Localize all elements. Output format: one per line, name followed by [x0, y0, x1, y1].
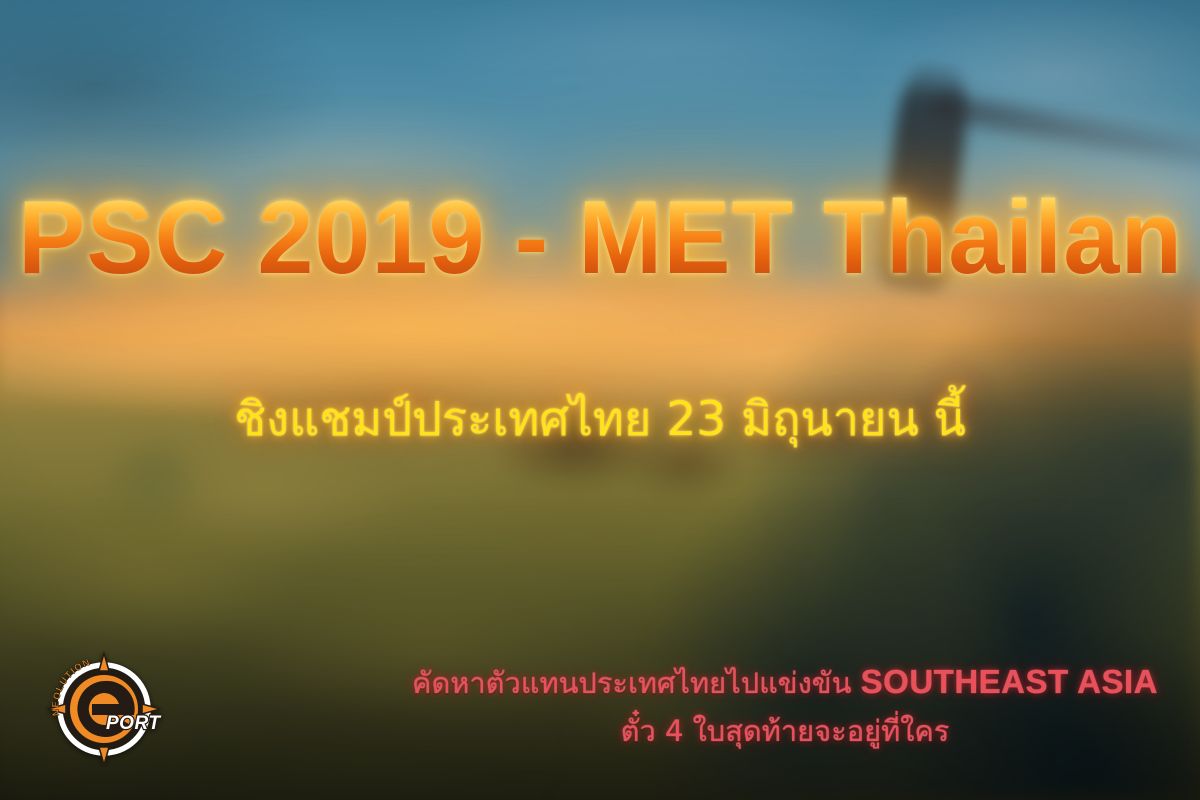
tagline-line-1-thai: คัดหาตัวแทนประเทศไทยไปแข่งขัน [412, 666, 861, 700]
poster-content: PSC 2019 - MET Thailand Qualifier ชิงแชม… [0, 0, 1200, 800]
neolution-esport-logo: NEOLUTION PORT [46, 645, 162, 771]
logo-wordmark: PORT [106, 713, 161, 734]
tagline-block: คัดหาตัวแทนประเทศไทยไปแข่งขัน SOUTHEAST … [390, 655, 1180, 755]
esport-tournament-poster: PSC 2019 - MET Thailand Qualifier ชิงแชม… [0, 0, 1200, 800]
tagline-line-1: คัดหาตัวแทนประเทศไทยไปแข่งขัน SOUTHEAST … [390, 655, 1180, 708]
event-date-subtitle: ชิงแชมป์ประเทศไทย 23 มิถุนายน นี้ [0, 392, 1200, 447]
tagline-line-1-region: SOUTHEAST ASIA [861, 663, 1158, 700]
page-title: PSC 2019 - MET Thailand Qualifier [18, 186, 1182, 290]
tagline-line-2: ตั๋ว 4 ใบสุดท้ายจะอยู่ที่ใคร [390, 708, 1180, 755]
